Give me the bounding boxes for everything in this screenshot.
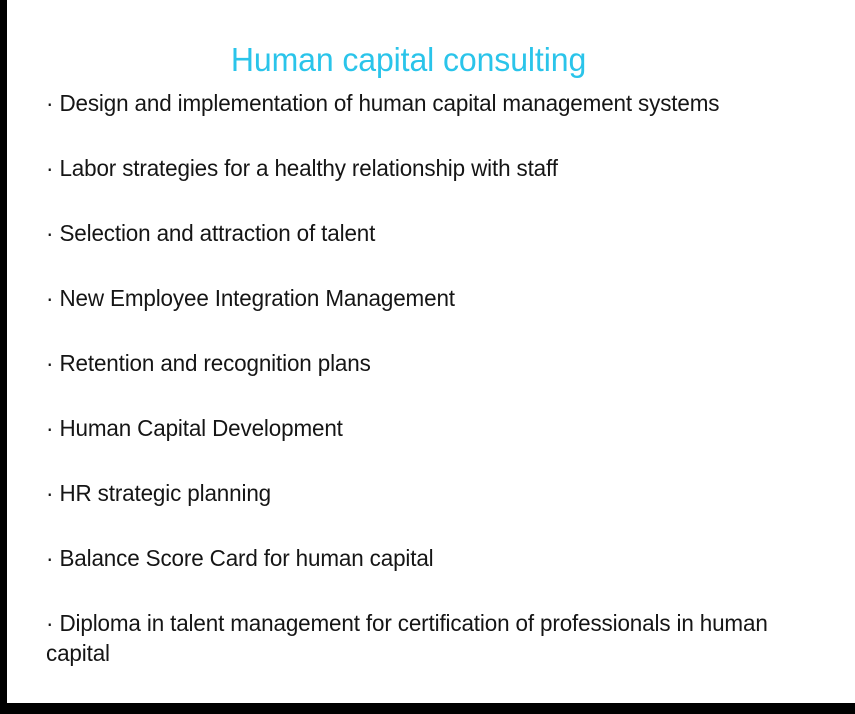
- bullet-dot-icon: ·: [46, 545, 53, 571]
- slide-canvas: Human capital consulting · Design and im…: [0, 0, 855, 714]
- list-item: · Diploma in talent management for certi…: [46, 608, 829, 668]
- list-item-label: Selection and attraction of talent: [59, 220, 375, 246]
- list-item-label: Retention and recognition plans: [59, 350, 370, 376]
- bullet-dot-icon: ·: [46, 285, 53, 311]
- bullet-dot-icon: ·: [46, 415, 53, 441]
- bullet-dot-icon: ·: [46, 480, 53, 506]
- list-item-label: Labor strategies for a healthy relations…: [59, 155, 557, 181]
- list-item: · Balance Score Card for human capital: [46, 543, 800, 608]
- list-item-label: Design and implementation of human capit…: [59, 90, 719, 116]
- bullet-dot-icon: ·: [46, 350, 53, 376]
- list-item: · New Employee Integration Management: [46, 283, 800, 348]
- list-item-label: New Employee Integration Management: [59, 285, 454, 311]
- page-title: Human capital consulting: [19, 39, 798, 81]
- bullet-dot-icon: ·: [46, 610, 53, 636]
- service-bullet-list: · Design and implementation of human cap…: [46, 88, 836, 668]
- list-item: · Selection and attraction of talent: [46, 218, 800, 283]
- bullet-dot-icon: ·: [46, 220, 53, 246]
- list-item: · Design and implementation of human cap…: [46, 88, 800, 153]
- list-item-label: Diploma in talent management for certifi…: [46, 610, 768, 666]
- list-item-label: Balance Score Card for human capital: [59, 545, 433, 571]
- bullet-dot-icon: ·: [46, 90, 53, 116]
- list-item-label: Human Capital Development: [59, 415, 342, 441]
- list-item: · HR strategic planning: [46, 478, 800, 543]
- slide-bottom-border-bar: [0, 703, 855, 714]
- list-item: · Labor strategies for a healthy relatio…: [46, 153, 800, 218]
- slide-left-border-bar: [0, 0, 7, 714]
- list-item-label: HR strategic planning: [59, 480, 271, 506]
- list-item: · Retention and recognition plans: [46, 348, 800, 413]
- list-item: · Human Capital Development: [46, 413, 800, 478]
- bullet-dot-icon: ·: [46, 155, 53, 181]
